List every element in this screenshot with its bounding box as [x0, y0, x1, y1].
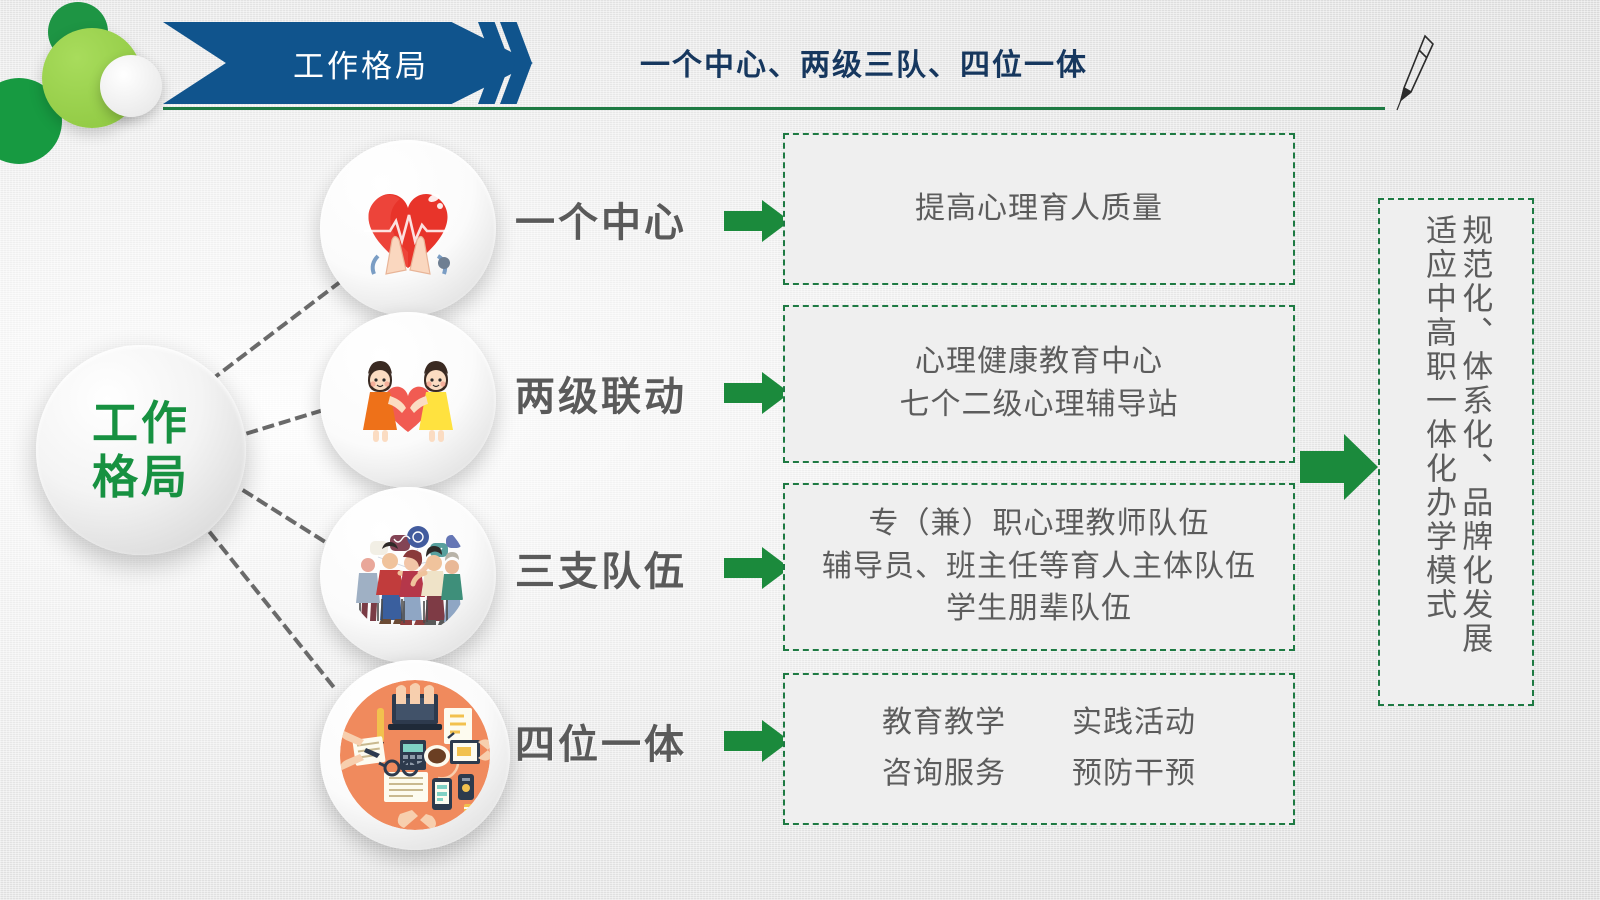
content-line: 预防干预 — [1072, 753, 1196, 796]
content-line: 咨询服务 — [882, 753, 1006, 796]
content-line: 七个二级心理辅导站 — [900, 384, 1179, 427]
two-girls-holding-heart-icon — [348, 340, 468, 460]
content-box-2: 心理健康教育中心 七个二级心理辅导站 — [783, 305, 1295, 463]
content-line: 心理健康教育中心 — [915, 341, 1163, 384]
content-line: 提高心理育人质量 — [915, 188, 1163, 231]
icon-circle-2 — [320, 312, 496, 488]
green-arrow-icon-4 — [724, 718, 790, 764]
content-box-1: 提高心理育人质量 — [783, 133, 1295, 285]
hub-title-line1: 工作 — [92, 396, 190, 450]
green-arrow-icon-1 — [724, 198, 790, 244]
icon-circle-1 — [320, 140, 496, 316]
row-label-2: 两级联动 — [515, 364, 687, 422]
outcome-column-right: 规范化、体系化、品牌化发展 — [1458, 214, 1490, 690]
content-line: 辅导员、班主任等育人主体队伍 — [822, 546, 1256, 589]
desk-workspace-icon — [340, 680, 490, 830]
content-box-4: 教育教学 实践活动 咨询服务 预防干预 — [783, 673, 1295, 825]
big-green-arrow-icon — [1300, 432, 1378, 502]
content-box-3: 专（兼）职心理教师队伍 辅导员、班主任等育人主体队伍 学生朋辈队伍 — [783, 483, 1295, 651]
outcome-panel: 规范化、体系化、品牌化发展 适应中高职一体化办学模式 — [1378, 198, 1534, 706]
icon-circle-4 — [320, 660, 510, 850]
content-line: 实践活动 — [1072, 702, 1196, 745]
content-line: 教育教学 — [882, 702, 1006, 745]
hub-title-line2: 格局 — [92, 450, 190, 504]
slide-canvas: 工作格局 一个中心、两级三队、四位一体 工作 格局 — [0, 0, 1600, 900]
content-grid: 教育教学 实践活动 咨询服务 预防干预 — [882, 702, 1196, 795]
row-label-3: 三支队伍 — [515, 539, 687, 597]
outcome-column-left: 适应中高职一体化办学模式 — [1422, 214, 1454, 690]
icon-circle-3 — [320, 487, 496, 663]
group-discussion-icon — [348, 515, 468, 635]
green-arrow-icon-3 — [724, 545, 790, 591]
hub-circle: 工作 格局 — [36, 345, 246, 555]
green-arrow-icon-2 — [724, 370, 790, 416]
row-label-1: 一个中心 — [515, 190, 687, 248]
content-line: 学生朋辈队伍 — [946, 588, 1132, 631]
heart-in-hands-icon — [348, 168, 468, 288]
row-label-4: 四位一体 — [515, 712, 687, 770]
content-line: 专（兼）职心理教师队伍 — [869, 503, 1210, 546]
